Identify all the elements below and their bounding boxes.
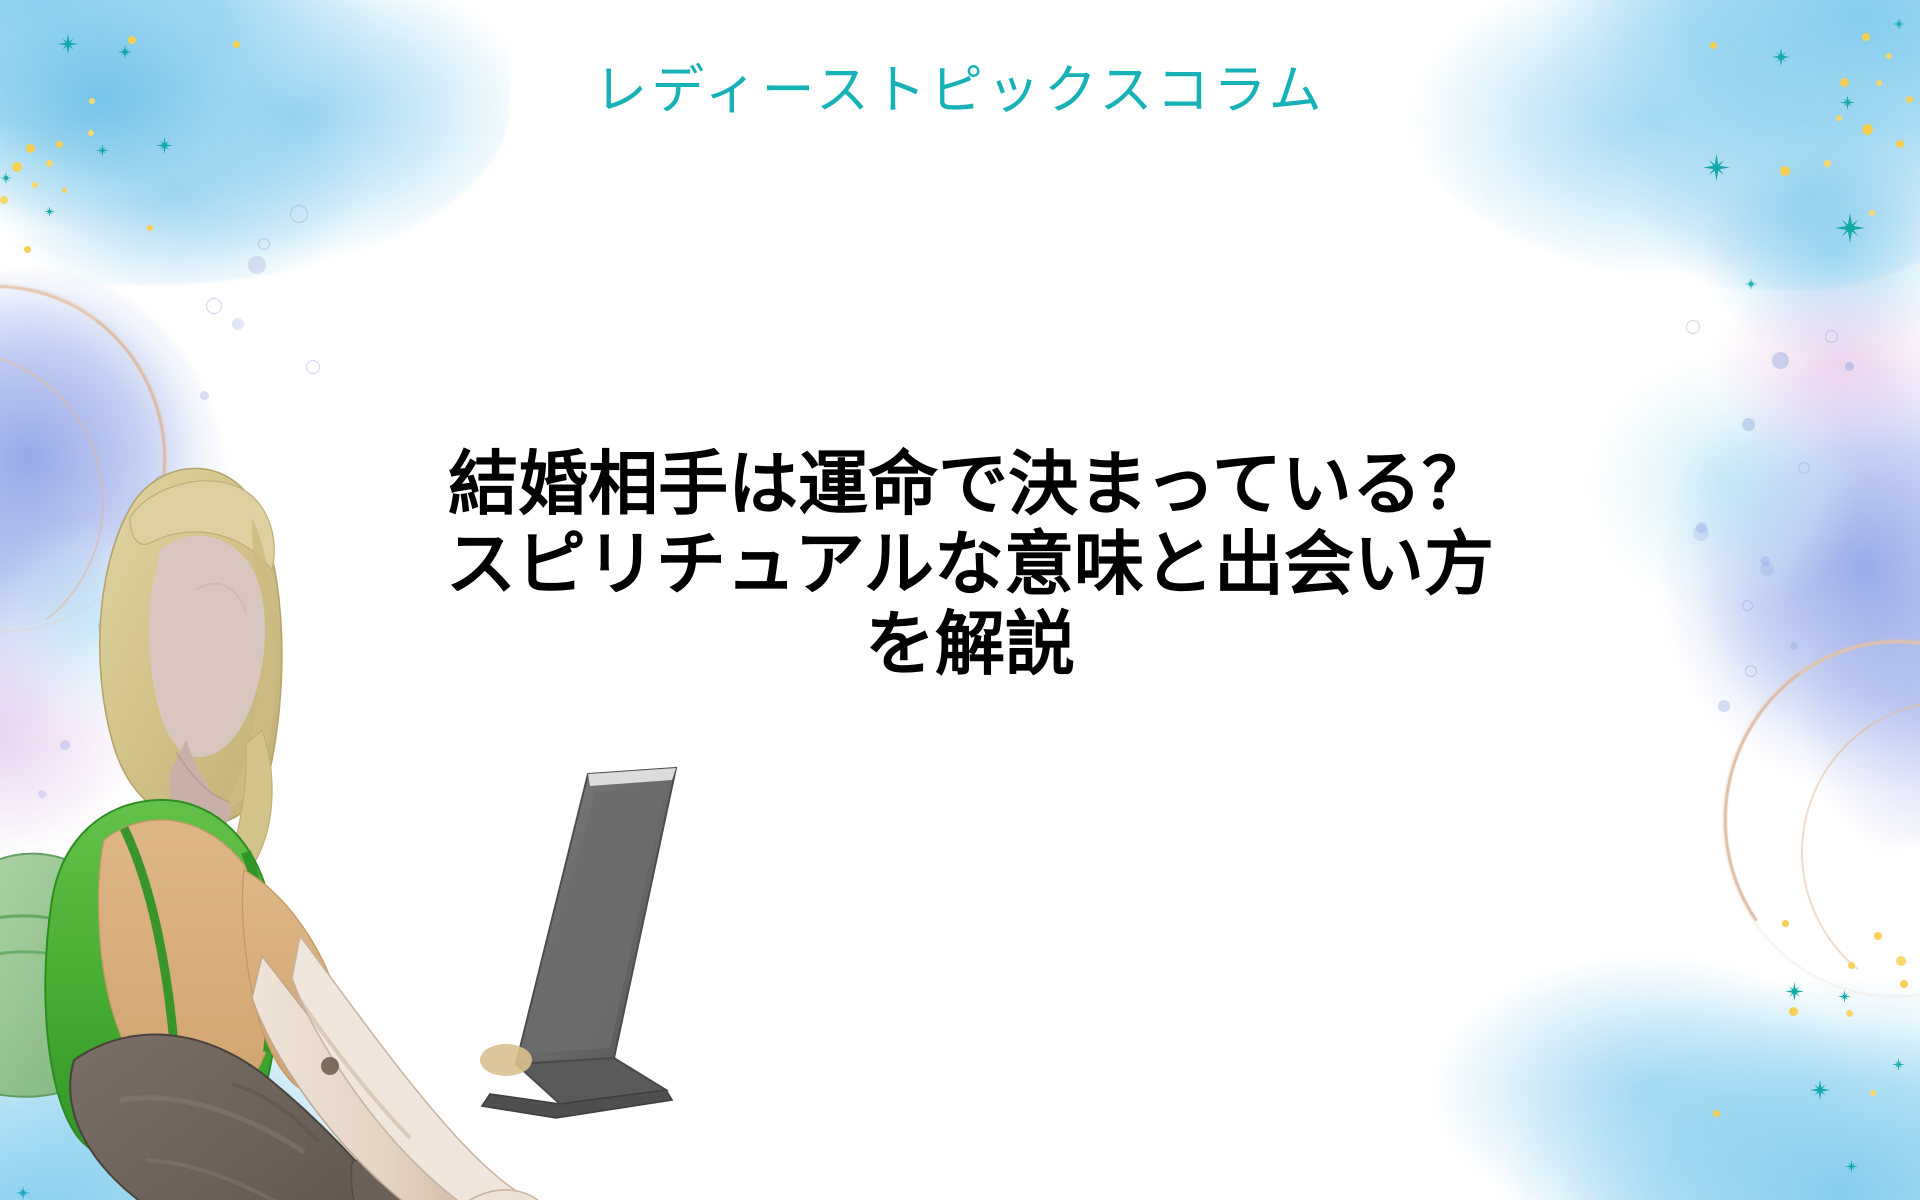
confetti-dot: [1713, 1110, 1720, 1117]
illus-wrist-mole: [321, 1057, 339, 1075]
confetti-dot: [1824, 160, 1831, 167]
confetti-dot: [56, 141, 63, 148]
bokeh-dot: [200, 391, 209, 400]
bokeh-ring: [1686, 320, 1700, 334]
bokeh-ring: [1825, 330, 1838, 343]
confetti-dot: [1848, 962, 1855, 969]
confetti-dot: [147, 225, 153, 231]
poster-canvas: レディーストピックスコラム 結婚相手は運命で決まっている？ スピリチュアルな意味…: [0, 0, 1920, 1200]
page-title-line-2: スピリチュアルな意味と出会い方: [340, 525, 1600, 605]
gold-glitter-arc-right-inner: [1786, 685, 1920, 1019]
bokeh-ring: [1745, 665, 1757, 677]
sparkle-star-icon: [118, 45, 132, 59]
confetti-dot: [24, 246, 31, 253]
watercolor-blob-top-left-accent: [0, 0, 340, 270]
sparkle-star-icon: [44, 206, 55, 217]
gold-glitter-arc-right-outer: [1696, 613, 1920, 1024]
bokeh-dot: [1742, 418, 1755, 431]
confetti-dot: [46, 160, 53, 167]
confetti-dot: [1900, 980, 1908, 988]
bokeh-ring: [306, 360, 320, 374]
ink-blob-right-cyan: [1560, 320, 1890, 660]
confetti-dot: [1710, 42, 1717, 49]
bokeh-ring: [258, 238, 270, 250]
bokeh-dot: [1696, 522, 1707, 533]
confetti-dot: [26, 144, 35, 153]
sparkle-star-icon: [1835, 213, 1865, 243]
bokeh-ring: [290, 205, 308, 223]
sparkle-star-icon: [1810, 1080, 1830, 1100]
illus-small-object: [480, 1044, 532, 1076]
bokeh-dot: [232, 318, 244, 330]
bokeh-dot: [1760, 562, 1774, 576]
page-title-line-1: 結婚相手は運命で決まっている？: [340, 445, 1600, 525]
confetti-dot: [1870, 1090, 1876, 1096]
confetti-dot: [1846, 1010, 1853, 1017]
sparkle-star-icon: [1893, 18, 1905, 30]
confetti-dot: [1886, 53, 1892, 59]
confetti-dot: [12, 162, 22, 172]
bokeh-dot: [1845, 362, 1854, 371]
confetti-dot: [88, 130, 94, 136]
watercolor-blob-top-right-accent: [1630, 120, 1920, 420]
watercolor-blob-top-right: [1400, 0, 1920, 290]
page-title: 結婚相手は運命で決まっている？ スピリチュアルな意味と出会い方 を解説: [340, 445, 1600, 684]
sparkle-star-icon: [1745, 278, 1757, 290]
bokeh-dot: [1790, 642, 1798, 650]
confetti-dot: [1869, 210, 1875, 216]
confetti-dot: [32, 182, 38, 188]
confetti-dot: [1862, 33, 1870, 41]
illus-laptop: [480, 768, 676, 1118]
sparkle-star-icon: [1892, 1058, 1905, 1071]
sparkle-star-icon: [58, 34, 78, 54]
bokeh-dot: [1693, 525, 1709, 541]
bokeh-dot: [1772, 352, 1789, 369]
confetti-dot: [0, 196, 8, 204]
confetti-dot: [1874, 932, 1882, 940]
confetti-dot: [1789, 1007, 1798, 1016]
bokeh-dot: [1760, 556, 1770, 566]
sparkle-star-icon: [0, 172, 12, 184]
sparkle-star-icon: [96, 144, 109, 157]
bokeh-ring: [206, 298, 222, 314]
ink-blob-right-pink: [1680, 250, 1920, 480]
page-title-line-3: を解説: [340, 605, 1600, 685]
sparkle-star-icon: [1703, 154, 1730, 181]
watercolor-blob-bottom-right: [1390, 930, 1920, 1200]
confetti-dot: [233, 41, 240, 48]
header-category-label: レディーストピックスコラム: [0, 62, 1920, 120]
bokeh-ring: [1798, 462, 1810, 474]
watercolor-blob-top-left: [0, 0, 510, 285]
bokeh-ring: [1742, 600, 1753, 611]
sparkle-star-icon: [156, 137, 173, 154]
confetti-dot: [1862, 124, 1873, 135]
confetti-dot: [1782, 920, 1789, 927]
sparkle-star-icon: [1845, 1160, 1858, 1173]
confetti-dot: [128, 36, 136, 44]
bokeh-dot: [1718, 700, 1730, 712]
bokeh-dot: [248, 256, 266, 274]
confetti-dot: [1780, 166, 1790, 176]
confetti-dot: [1896, 956, 1906, 966]
sparkle-star-icon: [1785, 982, 1804, 1001]
confetti-dot: [62, 188, 67, 193]
ink-blob-right-periwinkle: [1660, 330, 1920, 850]
confetti-dot: [1896, 140, 1904, 148]
sparkle-star-icon: [1838, 990, 1851, 1003]
